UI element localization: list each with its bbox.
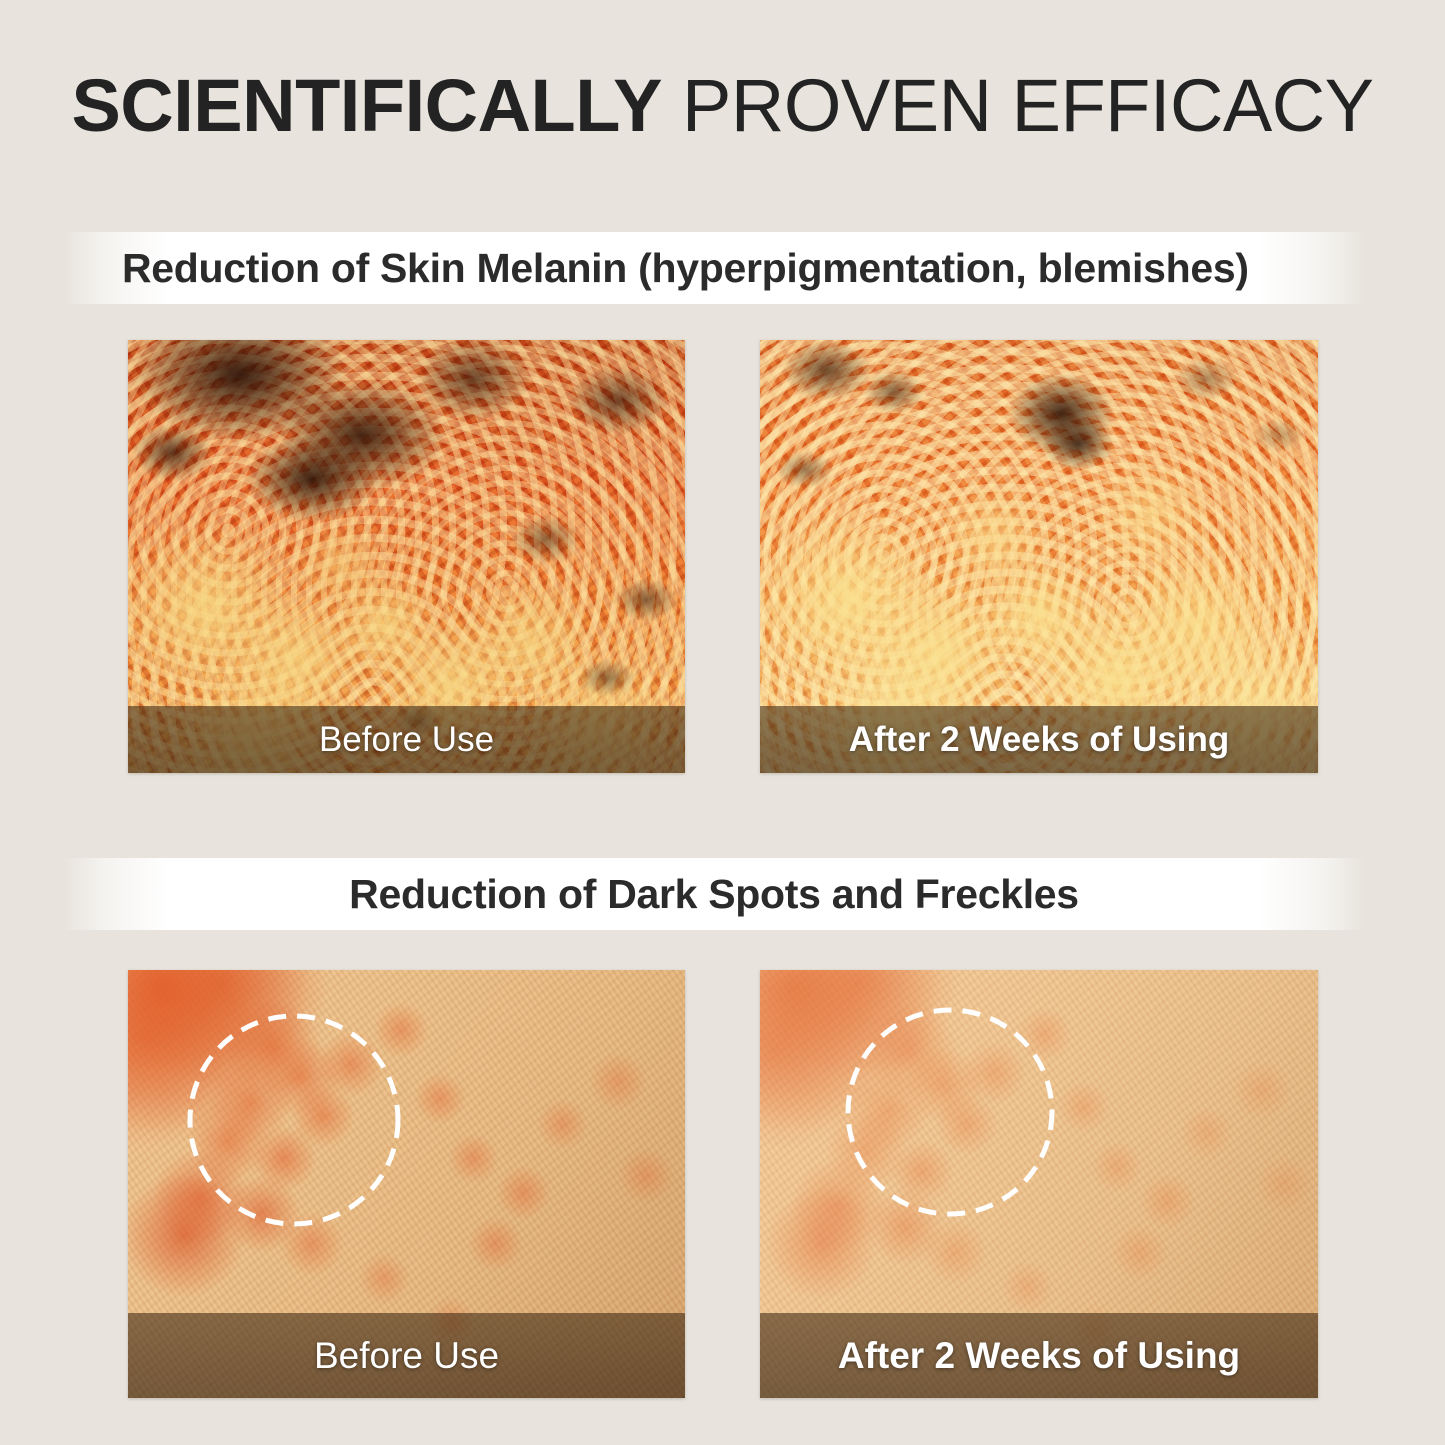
section-banner-label-dark-spots: Reduction of Dark Spots and Freckles	[64, 858, 1364, 930]
section-banner-melanin: Reduction of Skin Melanin (hyperpigmenta…	[64, 232, 1364, 304]
panel-melanin-after: After 2 Weeks of Using	[760, 340, 1318, 773]
caption-melanin-after: After 2 Weeks of Using	[849, 722, 1230, 757]
page-title-light: PROVEN EFFICACY	[662, 64, 1374, 147]
caption-band-melanin-before: Before Use	[128, 706, 685, 773]
caption-melanin-before: Before Use	[319, 722, 494, 757]
panel-melanin-before: Before Use	[128, 340, 685, 773]
page-title-strong: SCIENTIFICALLY	[71, 64, 662, 147]
caption-band-freckles-after: After 2 Weeks of Using	[760, 1313, 1318, 1398]
caption-band-freckles-before: Before Use	[128, 1313, 685, 1398]
page-title: SCIENTIFICALLY PROVEN EFFICACY	[0, 64, 1445, 148]
caption-freckles-before: Before Use	[314, 1337, 499, 1374]
section-banner-label-melanin: Reduction of Skin Melanin (hyperpigmenta…	[64, 232, 1364, 304]
caption-freckles-after: After 2 Weeks of Using	[838, 1337, 1240, 1374]
section-banner-dark-spots: Reduction of Dark Spots and Freckles	[64, 858, 1364, 930]
panel-freckles-before: Before Use	[128, 970, 685, 1398]
caption-band-melanin-after: After 2 Weeks of Using	[760, 706, 1318, 773]
panel-freckles-after: After 2 Weeks of Using	[760, 970, 1318, 1398]
